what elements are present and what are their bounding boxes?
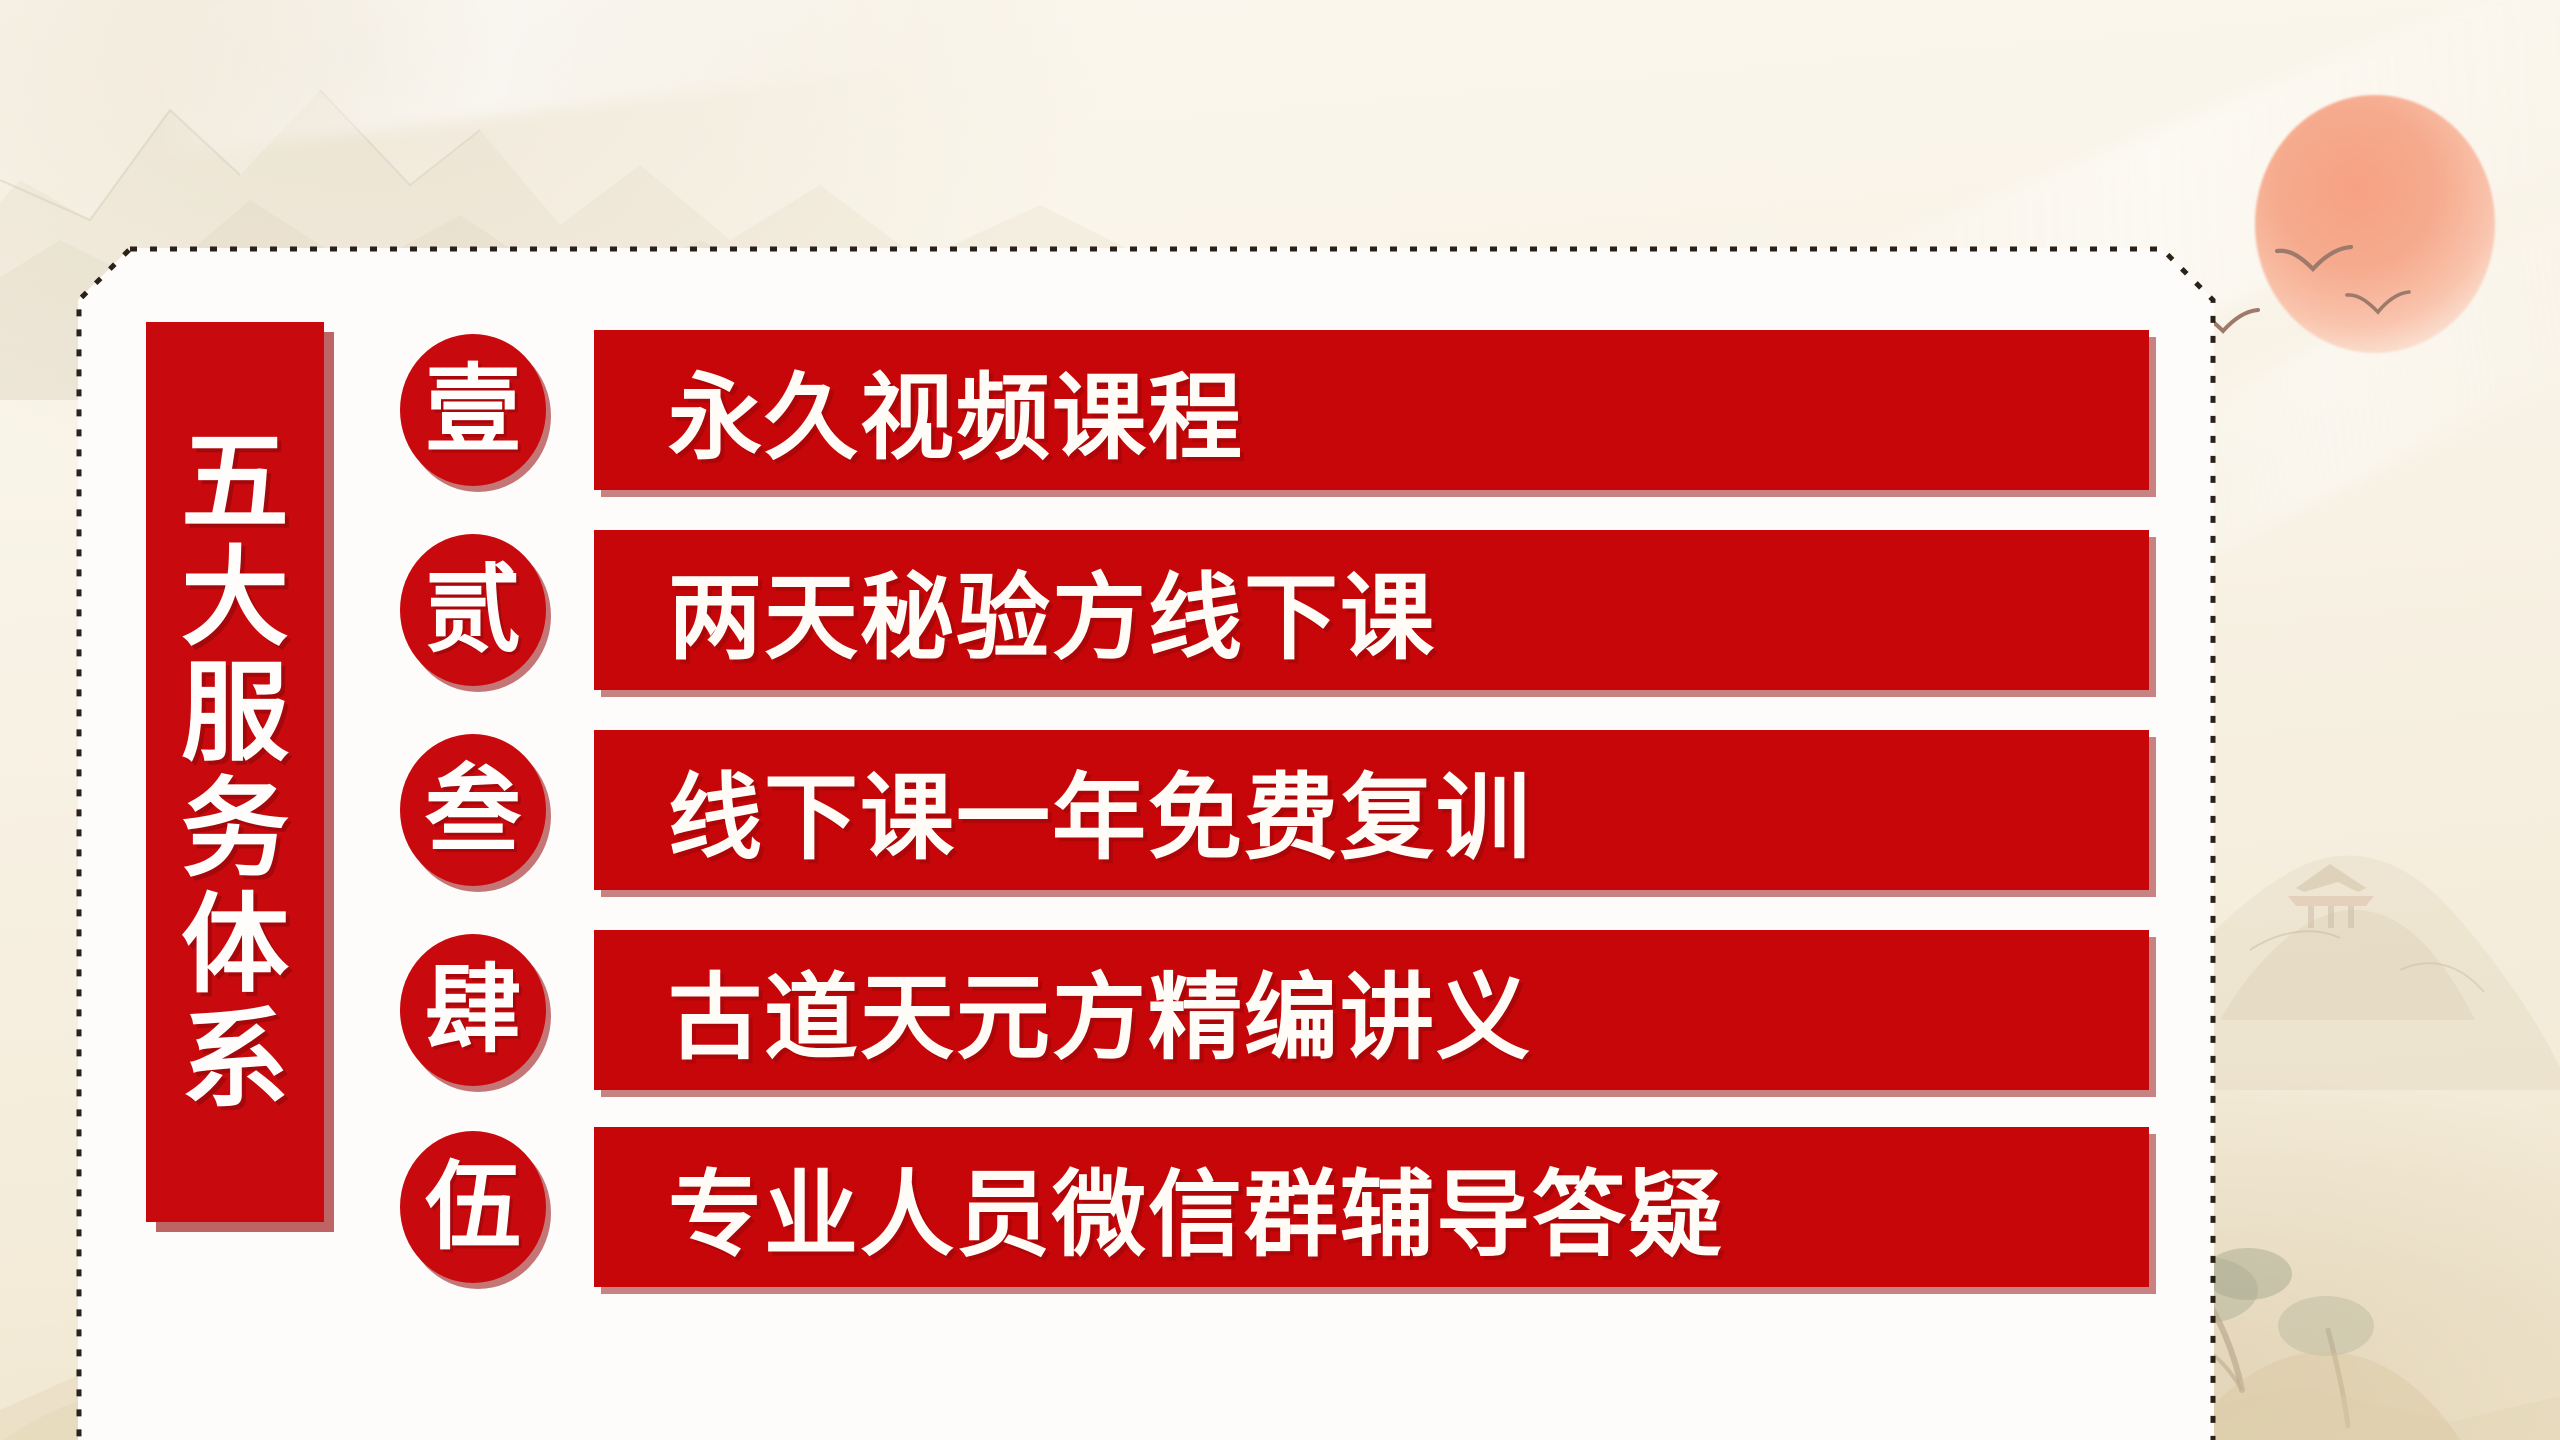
service-index-label-1: 壹: [425, 362, 521, 458]
poster-canvas: 五 大 服 务 体 系 壹 永久视频课程 贰 两天秘验方线下课 叁 线下课一年免…: [0, 0, 2560, 1440]
service-text-2: 两天秘验方线下课: [594, 542, 1436, 678]
service-index-badge-4: 肆: [400, 934, 546, 1086]
title-char-6: 系: [181, 1003, 289, 1119]
service-index-badge-3: 叁: [400, 734, 546, 886]
service-index-label-4: 肆: [425, 962, 521, 1058]
title-char-2: 大: [181, 541, 289, 657]
service-text-1: 永久视频课程: [594, 342, 1244, 478]
service-index-label-5: 伍: [425, 1159, 521, 1255]
service-index-label-3: 叁: [425, 762, 521, 858]
service-text-5: 专业人员微信群辅导答疑: [594, 1139, 1724, 1275]
title-char-5: 体: [181, 888, 289, 1004]
service-bar-4[interactable]: 古道天元方精编讲义: [594, 930, 2149, 1090]
service-index-badge-1: 壹: [400, 334, 546, 486]
service-bar-1[interactable]: 永久视频课程: [594, 330, 2149, 490]
service-text-4: 古道天元方精编讲义: [594, 942, 1532, 1078]
service-row-1[interactable]: 壹 永久视频课程: [400, 330, 2149, 490]
service-row-3[interactable]: 叁 线下课一年免费复训: [400, 730, 2149, 890]
title-char-3: 服: [181, 656, 289, 772]
bird-1-icon: [2275, 245, 2353, 281]
bird-2-icon: [2345, 290, 2411, 322]
vertical-title-banner: 五 大 服 务 体 系: [146, 322, 324, 1222]
service-row-5[interactable]: 伍 专业人员微信群辅导答疑: [400, 1127, 2149, 1287]
title-char-1: 五: [181, 425, 289, 541]
service-bar-3[interactable]: 线下课一年免费复训: [594, 730, 2149, 890]
service-row-2[interactable]: 贰 两天秘验方线下课: [400, 530, 2149, 690]
service-row-4[interactable]: 肆 古道天元方精编讲义: [400, 930, 2149, 1090]
service-index-badge-2: 贰: [400, 534, 546, 686]
service-index-label-2: 贰: [425, 562, 521, 658]
paper-texture-streak: [154, 0, 927, 156]
service-index-badge-5: 伍: [400, 1131, 546, 1283]
sun-circle: [2255, 95, 2495, 353]
title-char-4: 务: [181, 772, 289, 888]
service-text-3: 线下课一年免费复训: [594, 742, 1532, 878]
service-bar-2[interactable]: 两天秘验方线下课: [594, 530, 2149, 690]
service-bar-5[interactable]: 专业人员微信群辅导答疑: [594, 1127, 2149, 1287]
